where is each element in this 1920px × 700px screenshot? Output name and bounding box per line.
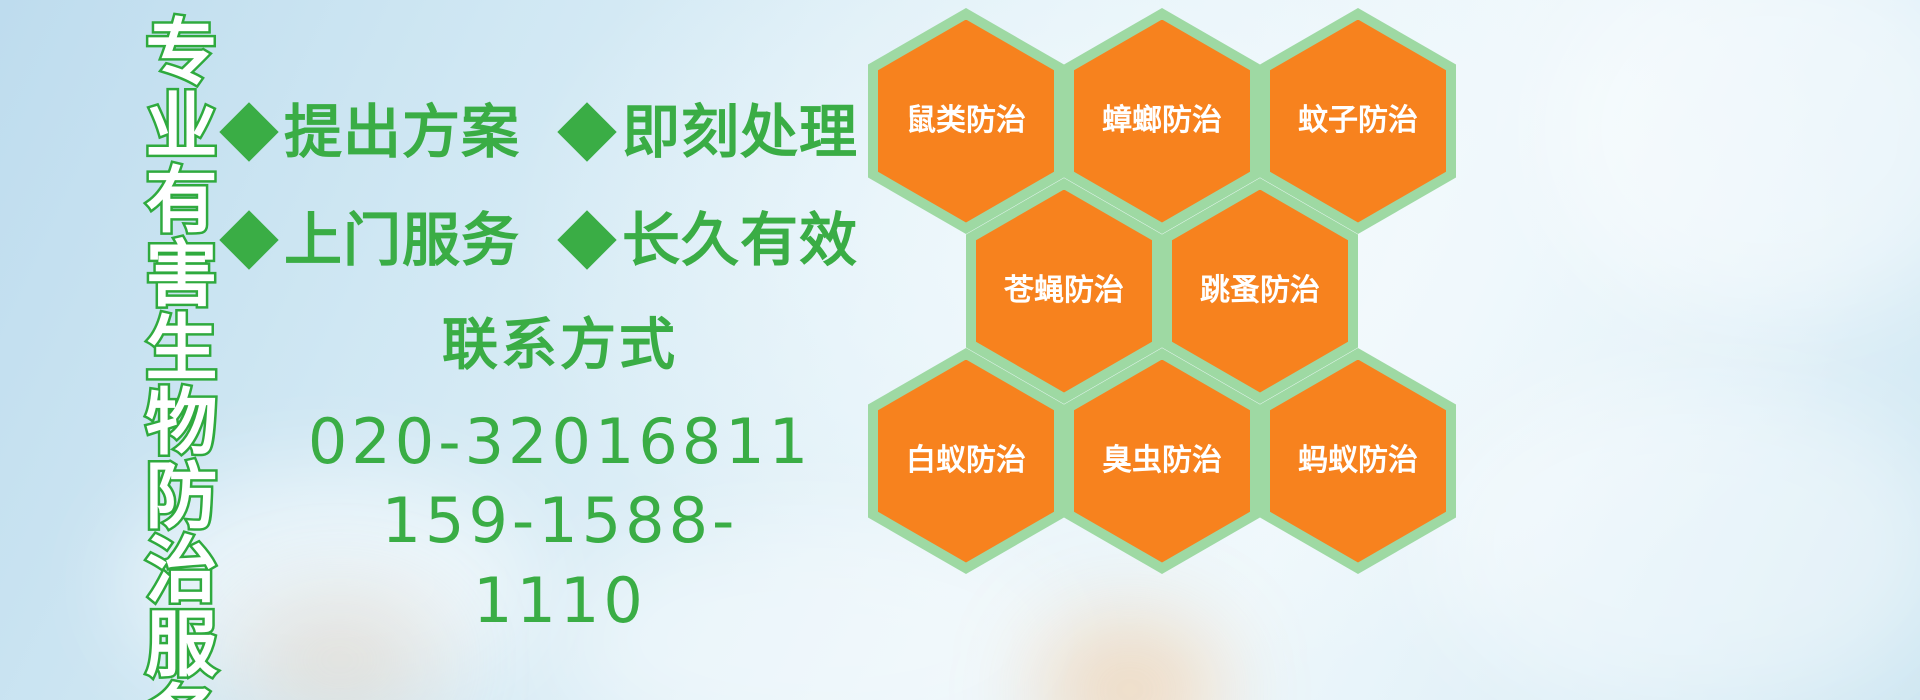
feature-label: 上门服务: [284, 211, 520, 269]
hex-inner: 臭虫防治: [1074, 360, 1250, 563]
feature-label: 提出方案: [284, 103, 520, 161]
feature-item: 上门服务: [228, 211, 520, 269]
hex-inner: 鼠类防治: [878, 20, 1054, 223]
feature-row: 提出方案 即刻处理: [228, 78, 868, 186]
hex-label: 苍蝇防治: [1004, 276, 1124, 306]
contact-phone-mobile[interactable]: 159-1588-1110: [300, 481, 820, 640]
diamond-icon: [219, 102, 278, 161]
diamond-icon: [219, 210, 278, 269]
contact-title: 联系方式: [300, 318, 820, 374]
hex-label: 蚂蚁防治: [1298, 446, 1418, 476]
background-glow-6: [1040, 620, 1220, 700]
hex-inner: 苍蝇防治: [976, 190, 1152, 393]
feature-item: 即刻处理: [566, 103, 858, 161]
hex-inner: 跳蚤防治: [1172, 190, 1348, 393]
hex-inner: 蚂蚁防治: [1270, 360, 1446, 563]
feature-item: 提出方案: [228, 103, 520, 161]
hex-label: 鼠类防治: [906, 106, 1026, 136]
background-glow-4: [1540, 0, 1920, 320]
contact-block: 联系方式 020-32016811 159-1588-1110: [300, 318, 820, 640]
hex-label: 白蚁防治: [906, 446, 1026, 476]
feature-label: 长久有效: [622, 211, 858, 269]
hex-label: 臭虫防治: [1102, 446, 1222, 476]
hex-label: 跳蚤防治: [1200, 276, 1320, 306]
hex-inner: 白蚁防治: [878, 360, 1054, 563]
hex-inner: 蚊子防治: [1270, 20, 1446, 223]
feature-list: 提出方案 即刻处理 上门服务 长久有效: [228, 78, 868, 294]
contact-phone-landline[interactable]: 020-32016811: [300, 402, 820, 481]
diamond-icon: [557, 102, 616, 161]
feature-item: 长久有效: [566, 211, 858, 269]
background-glow-3: [1430, 380, 1920, 700]
service-banner: 专业有害生物防治服务 提出方案 即刻处理 上门服务 长久有效: [0, 0, 1920, 700]
hex-inner: 蟑螂防治: [1074, 20, 1250, 223]
feature-row: 上门服务 长久有效: [228, 186, 868, 294]
vertical-headline: 专业有害生物防治服务: [108, 14, 212, 700]
service-hexagon-grid: 鼠类防治 蟑螂防治 蚊子防治 苍蝇防治 跳蚤防治 白蚁防治: [858, 0, 1478, 560]
diamond-icon: [557, 210, 616, 269]
hex-label: 蚊子防治: [1298, 106, 1418, 136]
feature-label: 即刻处理: [622, 103, 858, 161]
hex-label: 蟑螂防治: [1102, 106, 1222, 136]
